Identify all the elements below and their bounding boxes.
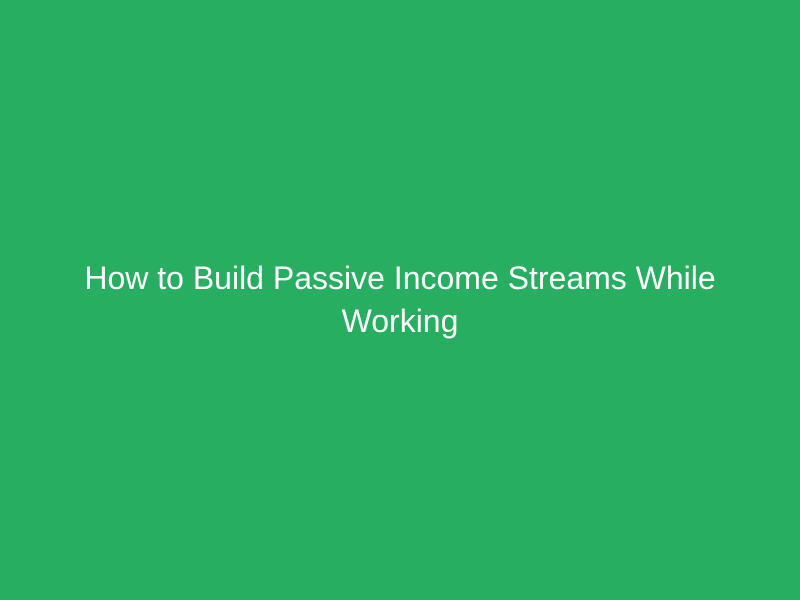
- title-block: How to Build Passive Income Streams Whil…: [70, 257, 730, 343]
- page-title: How to Build Passive Income Streams Whil…: [80, 257, 720, 343]
- title-card: How to Build Passive Income Streams Whil…: [0, 0, 800, 600]
